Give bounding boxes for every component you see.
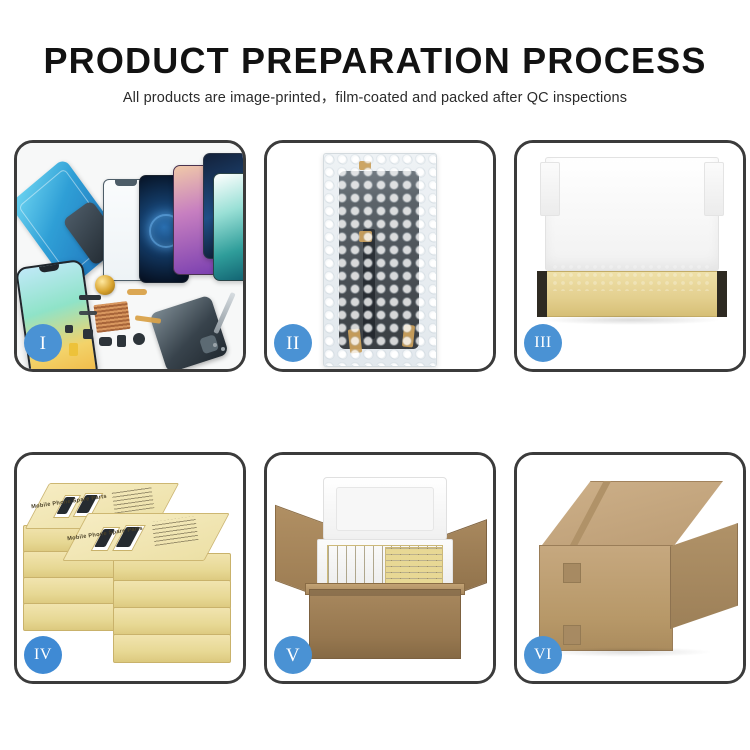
step-5-badge: V — [274, 636, 312, 674]
kraft-tape-icon — [359, 161, 371, 170]
sealed-carton-front-icon — [539, 545, 673, 651]
speaker-module-icon — [95, 275, 115, 295]
step-6-badge: VI — [524, 636, 562, 674]
styrofoam-lid-icon — [323, 477, 447, 541]
process-grid: I II III — [0, 0, 750, 750]
flex-cable-icon — [79, 311, 97, 315]
process-step-3[interactable]: III — [514, 140, 746, 372]
process-step-4[interactable]: Mobile Phone Spare Parts Mobile Phone Sp… — [14, 452, 246, 684]
component-chip-icon — [133, 333, 145, 345]
sealed-carton-side-icon — [670, 523, 738, 629]
process-step-1[interactable]: I — [14, 140, 246, 372]
step-1-badge: I — [24, 324, 62, 362]
carton-shadow-decoration — [543, 647, 713, 657]
component-chip-icon — [69, 343, 78, 356]
kraft-tape-icon — [402, 324, 415, 347]
screw-icon — [213, 343, 217, 347]
carton-tab-icon — [563, 625, 581, 645]
component-chip-icon — [83, 329, 93, 339]
component-chip-icon — [99, 337, 112, 346]
white-foam-lid-icon — [545, 157, 719, 271]
kraft-tape-icon — [348, 328, 362, 353]
component-chip-icon — [117, 335, 126, 347]
wrapped-screen-icon — [339, 171, 419, 349]
flex-cable-icon — [127, 289, 147, 295]
process-step-6[interactable]: VI — [514, 452, 746, 684]
carton-body-icon — [309, 589, 461, 659]
step-4-badge: IV — [24, 636, 62, 674]
screw-icon — [221, 347, 225, 351]
gray-bubble-padding-icon — [551, 263, 711, 291]
box-shadow-decoration — [541, 315, 721, 325]
retail-box-item — [113, 580, 231, 609]
step-3-badge: III — [524, 324, 562, 362]
step-2-badge: II — [274, 324, 312, 362]
teal-phone-screen-icon — [213, 173, 243, 281]
component-chip-icon — [65, 325, 73, 333]
pry-tool-icon — [213, 292, 235, 334]
inner-boxes-stacked-icon — [385, 547, 443, 585]
kraft-tape-icon — [359, 231, 372, 242]
retail-box-item — [113, 607, 231, 636]
process-step-5[interactable]: V — [264, 452, 496, 684]
wrapped-flex-cable-icon — [363, 229, 375, 339]
component-chip-icon — [79, 295, 101, 300]
process-step-2[interactable]: II — [264, 140, 496, 372]
copper-mesh-icon — [93, 301, 130, 333]
retail-box-item — [113, 634, 231, 663]
carton-tab-icon — [563, 563, 581, 583]
